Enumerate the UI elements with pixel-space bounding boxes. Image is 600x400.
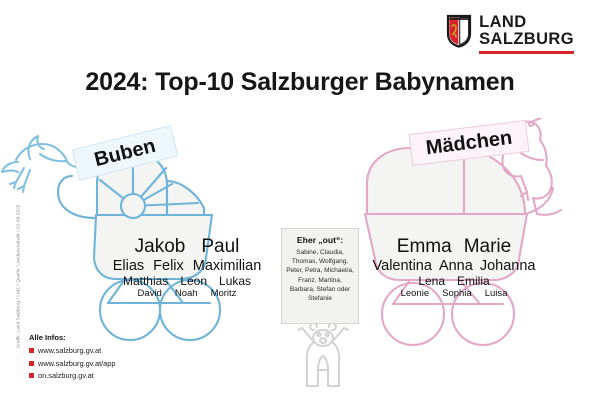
bullet-square-icon xyxy=(29,348,34,353)
girls-row-4: Leonie Sophia Luisa xyxy=(368,288,540,299)
boys-row-2: Elias Felix Maximilian xyxy=(97,258,277,274)
salzburg-coat-of-arms-icon xyxy=(446,14,472,48)
info-link[interactable]: on.salzburg.gv.at xyxy=(38,371,94,380)
boys-name: Jakob xyxy=(135,236,186,258)
info-link[interactable]: www.salzburg.gv.at xyxy=(38,346,101,355)
page-title: 2024: Top-10 Salzburger Babynamen xyxy=(0,68,600,97)
girls-name-list: Emma Marie Valentina Anna Johanna Lena E… xyxy=(368,236,540,299)
girls-row-3: Lena Emilia xyxy=(368,274,540,288)
boys-row-3: Matthias Leon Lukas xyxy=(97,274,277,288)
infographic-canvas: LAND SALZBURG 2024: Top-10 Salzburger Ba… xyxy=(0,0,600,400)
land-salzburg-logo: LAND SALZBURG xyxy=(446,14,574,54)
info-link-row[interactable]: on.salzburg.gv.at xyxy=(29,371,116,380)
boys-name: David xyxy=(138,288,162,299)
girls-name: Anna xyxy=(439,258,473,274)
boys-name: Leon xyxy=(180,274,207,288)
out-box-names: Sabine, Claudia, Thomas, Wolfgang, Peter… xyxy=(286,248,354,303)
baby-icon xyxy=(288,324,358,396)
boys-name: Maximilian xyxy=(193,258,262,274)
boys-name: Felix xyxy=(153,258,184,274)
boys-name: Paul xyxy=(201,236,239,258)
girls-name: Emilia xyxy=(457,274,490,288)
girls-row-1: Emma Marie xyxy=(368,236,540,258)
logo-accent-rule xyxy=(479,51,574,54)
girls-name: Leonie xyxy=(401,288,430,299)
girls-name: Emma xyxy=(397,236,452,258)
out-names-box: Eher „out“: Sabine, Claudia, Thomas, Wol… xyxy=(281,228,359,324)
boys-name: Moritz xyxy=(211,288,237,299)
boys-name-list: Jakob Paul Elias Felix Maximilian Matthi… xyxy=(97,236,277,299)
info-link-row[interactable]: www.salzburg.gv.at/app xyxy=(29,359,116,368)
logo-line-1: LAND xyxy=(479,14,574,31)
bullet-square-icon xyxy=(29,361,34,366)
info-link-row[interactable]: www.salzburg.gv.at xyxy=(29,346,116,355)
girls-name: Lena xyxy=(418,274,445,288)
boys-name: Noah xyxy=(175,288,198,299)
info-heading: Alle Infos: xyxy=(29,333,116,342)
girls-name: Luisa xyxy=(485,288,508,299)
boys-name: Lukas xyxy=(219,274,251,288)
boys-row-4: David Noah Moritz xyxy=(97,288,277,299)
boys-row-1: Jakob Paul xyxy=(97,236,277,258)
girls-name: Sophia xyxy=(442,288,472,299)
boys-name: Matthias xyxy=(123,274,168,288)
info-links-block: Alle Infos: www.salzburg.gv.at www.salzb… xyxy=(29,333,116,384)
info-link[interactable]: www.salzburg.gv.at/app xyxy=(38,359,116,368)
girls-row-2: Valentina Anna Johanna xyxy=(368,258,540,274)
boys-name: Elias xyxy=(113,258,144,274)
bullet-square-icon xyxy=(29,373,34,378)
logo-line-2: SALZBURG xyxy=(479,31,574,48)
girls-name: Valentina xyxy=(373,258,432,274)
girls-name: Johanna xyxy=(480,258,536,274)
girls-name: Marie xyxy=(464,236,512,258)
out-box-title: Eher „out“: xyxy=(286,235,354,245)
